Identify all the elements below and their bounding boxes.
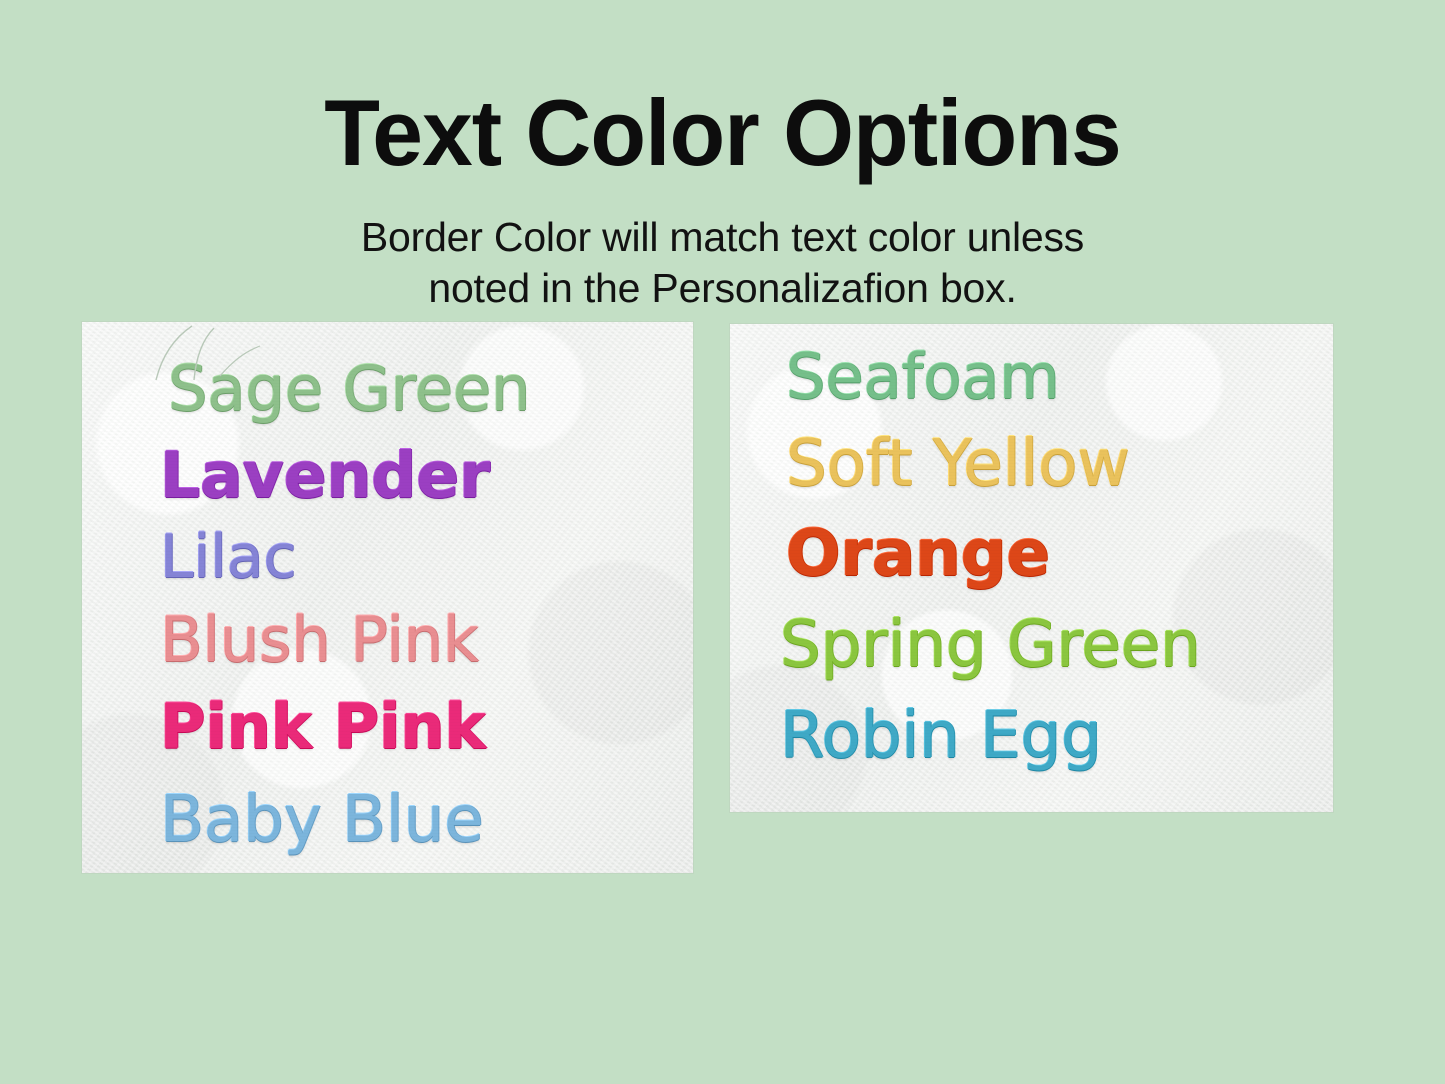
left-swatch-line-list: Sage Green Lavender Lilac Blush Pink Pin…	[82, 322, 693, 873]
color-label-lavender: Lavender	[160, 444, 490, 507]
color-line-sage-green: Sage Green	[168, 358, 530, 420]
color-label-lilac: Lilac	[160, 527, 297, 587]
color-label-seafoam: Seafoam	[786, 346, 1060, 408]
color-line-soft-yellow: Soft Yellow	[786, 432, 1130, 496]
page-title: Text Color Options	[22, 86, 1424, 180]
color-line-orange: Orange	[786, 522, 1050, 586]
subtitle-line-1: Border Color will match text color unles…	[0, 212, 1445, 263]
left-color-swatch-panel: Sage Green Lavender Lilac Blush Pink Pin…	[82, 322, 693, 873]
color-label-spring-green: Spring Green	[780, 613, 1201, 677]
color-line-seafoam: Seafoam	[786, 346, 1060, 408]
color-label-soft-yellow: Soft Yellow	[786, 432, 1130, 496]
color-label-baby-blue: Baby Blue	[160, 788, 484, 852]
color-line-pink-pink: Pink Pink	[160, 696, 486, 758]
color-line-lavender: Lavender	[160, 444, 490, 507]
color-label-sage-green: Sage Green	[168, 358, 530, 420]
right-swatch-line-list: Seafoam Soft Yellow Orange Spring Green …	[730, 324, 1333, 812]
color-label-orange: Orange	[786, 522, 1050, 586]
right-color-swatch-panel: Seafoam Soft Yellow Orange Spring Green …	[730, 324, 1333, 812]
color-label-pink-pink: Pink Pink	[160, 696, 486, 758]
color-label-blush-pink: Blush Pink	[160, 609, 479, 671]
subtitle: Border Color will match text color unles…	[0, 212, 1445, 314]
subtitle-line-2: noted in the Personalizafion box.	[0, 263, 1445, 314]
color-label-robin-egg: Robin Egg	[780, 704, 1102, 768]
color-options-graphic: Text Color Options Border Color will mat…	[0, 0, 1445, 1084]
color-line-robin-egg: Robin Egg	[780, 704, 1102, 768]
color-line-spring-green: Spring Green	[780, 613, 1201, 677]
color-line-blush-pink: Blush Pink	[160, 609, 479, 671]
color-line-baby-blue: Baby Blue	[160, 788, 484, 852]
color-line-lilac: Lilac	[160, 527, 297, 587]
